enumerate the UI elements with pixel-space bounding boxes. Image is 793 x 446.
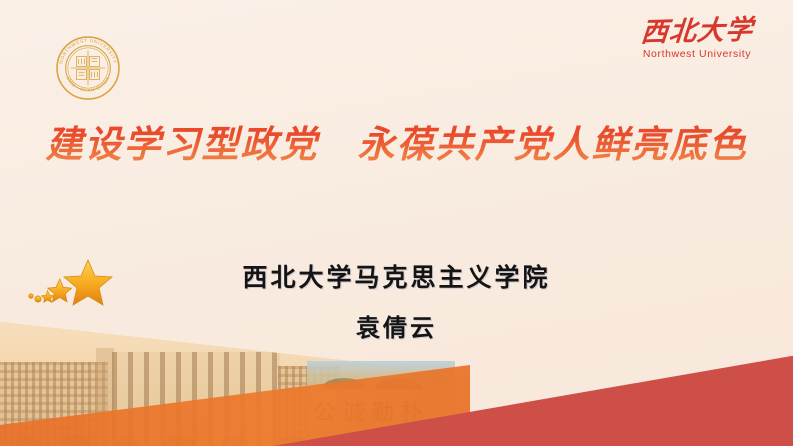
slide-subtitle: 西北大学马克思主义学院	[0, 258, 793, 294]
logo-name-cn: 西北大学	[622, 16, 773, 48]
presentation-title-slide: 公诚勤朴	[0, 0, 793, 446]
university-logo: 西北大学 Northwest University	[623, 18, 771, 60]
slide-presenter-name: 袁倩云	[0, 308, 793, 343]
logo-name-en: Northwest University	[623, 48, 771, 60]
university-seal-emblem: NORTHWEST UNIVERSITY 1902 · XI'AN CHINA	[52, 32, 124, 104]
slide-title: 建设学习型政党 永葆共产党人鲜亮底色	[0, 114, 793, 168]
